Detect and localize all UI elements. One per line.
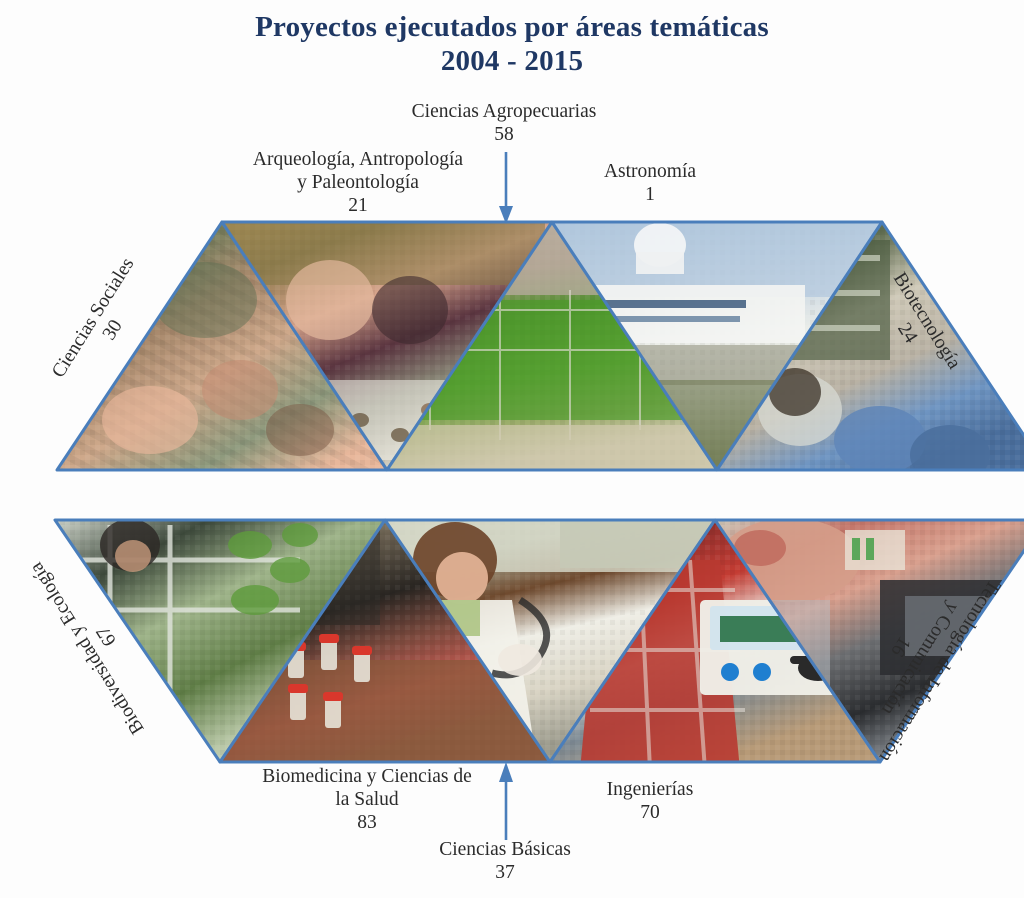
label-value: 70 — [560, 801, 740, 824]
label-value: 83 — [222, 811, 512, 834]
label-value: 58 — [389, 123, 619, 146]
label-ingenierias: Ingenierías 70 — [560, 778, 740, 824]
label-text-line2: y Paleontología — [297, 172, 419, 193]
label-astronomia: Astronomía 1 — [570, 160, 730, 206]
label-text: Astronomía — [604, 161, 696, 182]
label-value: 21 — [218, 194, 498, 217]
label-text: Ciencias Básicas — [439, 839, 571, 860]
label-text-line2: la Salud — [335, 789, 398, 810]
label-biomedicina: Biomedicina y Ciencias de la Salud 83 — [222, 765, 512, 834]
label-ciencias-agropecuarias: Ciencias Agropecuarias 58 — [389, 100, 619, 146]
label-text: Ciencias Agropecuarias — [412, 101, 597, 122]
callout-arrow-top — [499, 152, 513, 224]
label-ciencias-basicas: Ciencias Básicas 37 — [395, 838, 615, 884]
infographic-canvas: Proyectos ejecutados por áreas temáticas… — [0, 0, 1024, 898]
label-value: 1 — [570, 183, 730, 206]
label-value: 37 — [395, 861, 615, 884]
label-text: Ingenierías — [607, 779, 694, 800]
label-arqueologia: Arqueología, Antropología y Paleontologí… — [218, 148, 498, 217]
label-text-line1: Arqueología, Antropología — [253, 149, 463, 170]
label-text-line1: Biomedicina y Ciencias de — [262, 766, 472, 787]
